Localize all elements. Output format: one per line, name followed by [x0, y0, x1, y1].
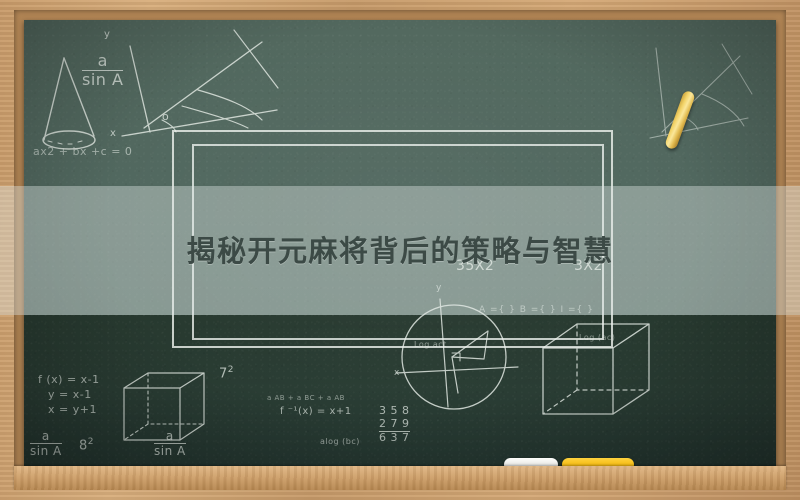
- wooden-chalk-tray: [14, 466, 786, 490]
- page-title: 揭秘开元麻将背后的策略与智慧: [0, 228, 800, 270]
- poster-canvas: a sin A y x o ax2 + bx +c = 0 f (x) = x-…: [0, 0, 800, 500]
